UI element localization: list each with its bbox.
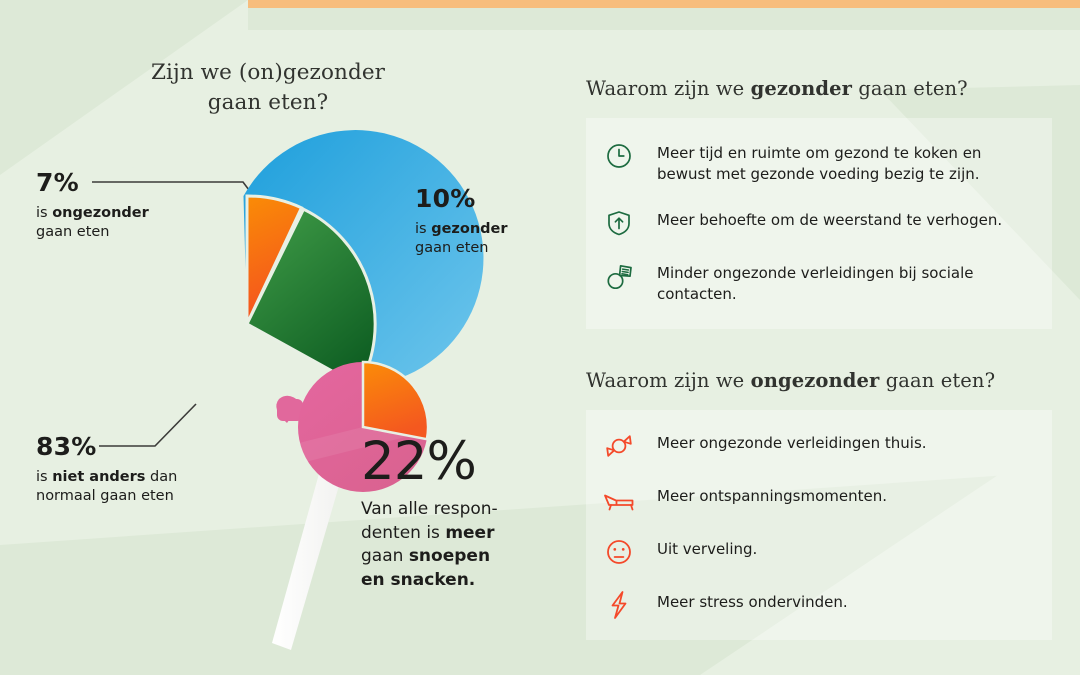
callout-desc-pre: is bbox=[36, 205, 52, 221]
lollipop-stat: 22% Van alle respon- denten is meer gaan… bbox=[361, 437, 511, 592]
callout-niet-anders: 83% is niet anders dan normaal gaan eten bbox=[36, 434, 177, 506]
callout-ongezonder: 7% is ongezonder gaan eten bbox=[36, 170, 149, 242]
callout-description: is ongezonder gaan eten bbox=[36, 204, 149, 242]
list-item-label: Meer ongezonde verleidingen thuis. bbox=[657, 430, 927, 454]
bored-face-icon bbox=[602, 537, 636, 567]
panel-ongezonder: Waarom zijn we ongezonder gaan eten? Mee… bbox=[586, 368, 1052, 640]
reason-list-gezonder: Meer tijd en ruimte om gezond te koken e… bbox=[586, 118, 1052, 329]
panel-heading-post: gaan eten? bbox=[852, 77, 968, 100]
callout-description: is niet anders dan normaal gaan eten bbox=[36, 468, 177, 506]
list-item-label: Meer stress ondervinden. bbox=[657, 589, 848, 613]
callout-desc-bold: ongezonder bbox=[52, 205, 149, 221]
list-item-label: Uit verveling. bbox=[657, 536, 757, 560]
callout-desc-bold: gezonder bbox=[431, 221, 507, 237]
lollipop-line4-bold: en snacken. bbox=[361, 570, 475, 590]
panel-heading-bold: gezonder bbox=[751, 77, 852, 100]
panel-heading-pre: Waarom zijn we bbox=[586, 369, 751, 392]
list-item: Meer ongezonde verleidingen thuis. bbox=[602, 430, 1034, 461]
callout-desc-line2: normaal gaan eten bbox=[36, 488, 174, 504]
callout-desc-post: dan bbox=[145, 469, 177, 485]
panel-heading-pre: Waarom zijn we bbox=[586, 77, 751, 100]
lollipop-percent: 22% bbox=[361, 437, 511, 487]
lollipop-line2-pre: denten is bbox=[361, 523, 445, 543]
callout-description: is gezonder gaan eten bbox=[415, 220, 508, 258]
lollipop-line3-bold: snoepen bbox=[409, 546, 490, 566]
callout-desc-bold: niet anders bbox=[52, 469, 145, 485]
callout-percent: 10% bbox=[415, 186, 508, 211]
lollipop-stick bbox=[272, 463, 343, 650]
list-item: Meer ontspanningsmomenten. bbox=[602, 483, 1034, 514]
clock-icon bbox=[602, 141, 636, 171]
callout-desc-pre: is bbox=[415, 221, 431, 237]
panel-heading: Waarom zijn we ongezonder gaan eten? bbox=[586, 368, 1052, 394]
list-item-label: Meer tijd en ruimte om gezond te koken e… bbox=[657, 140, 1034, 185]
lollipop-slice-22 bbox=[363, 362, 428, 439]
panel-heading: Waarom zijn we gezonder gaan eten? bbox=[586, 76, 1052, 102]
list-item-label: Meer behoefte om de weerstand te verhoge… bbox=[657, 207, 1002, 231]
lollipop-description: Van alle respon- denten is meer gaan sno… bbox=[361, 498, 511, 592]
lounge-chair-icon bbox=[602, 484, 636, 514]
panel-gezonder: Waarom zijn we gezonder gaan eten? Meer … bbox=[586, 76, 1052, 329]
panel-heading-bold: ongezonder bbox=[751, 369, 880, 392]
list-item-label: Meer ontspanningsmomenten. bbox=[657, 483, 887, 507]
lightning-bolt-icon bbox=[602, 590, 636, 620]
callout-desc-line2: gaan eten bbox=[36, 224, 110, 240]
list-item: Meer stress ondervinden. bbox=[602, 589, 1034, 620]
reason-list-ongezonder: Meer ongezonde verleidingen thuis. Meer … bbox=[586, 410, 1052, 640]
list-item: Meer tijd en ruimte om gezond te koken e… bbox=[602, 140, 1034, 185]
lollipop-line2-bold: meer bbox=[445, 523, 494, 543]
callout-percent: 7% bbox=[36, 170, 149, 195]
infographic-canvas: Zijn we (on)gezonder gaan eten? bbox=[0, 0, 1080, 675]
callout-gezonder: 10% is gezonder gaan eten bbox=[415, 186, 508, 258]
lollipop-line1: Van alle respon- bbox=[361, 499, 498, 519]
list-item: Meer behoefte om de weerstand te verhoge… bbox=[602, 207, 1034, 238]
callout-desc-line2: gaan eten bbox=[415, 240, 489, 256]
panel-heading-post: gaan eten? bbox=[879, 369, 995, 392]
person-speech-icon bbox=[602, 261, 636, 291]
candy-icon bbox=[602, 431, 636, 461]
callout-desc-pre: is bbox=[36, 469, 52, 485]
list-item: Uit verveling. bbox=[602, 536, 1034, 567]
lollipop-line3-pre: gaan bbox=[361, 546, 409, 566]
list-item: Minder ongezonde verleidingen bij social… bbox=[602, 260, 1034, 305]
callout-percent: 83% bbox=[36, 434, 177, 459]
shield-arrow-up-icon bbox=[602, 208, 636, 238]
list-item-label: Minder ongezonde verleidingen bij social… bbox=[657, 260, 1034, 305]
